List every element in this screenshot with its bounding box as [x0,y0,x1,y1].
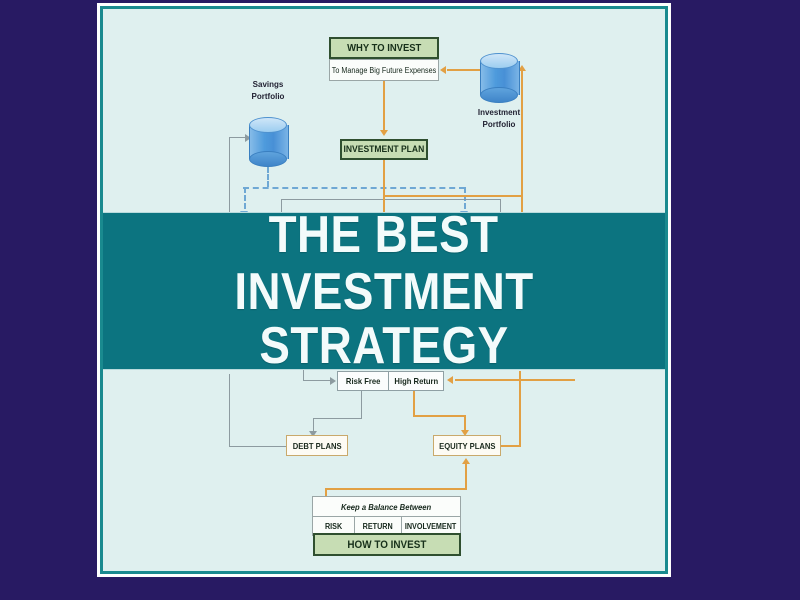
node-debt-plans[interactable]: DEBT PLANS [286,435,348,456]
node-investment-plan-label: INVESTMENT PLAN [344,144,425,155]
node-manage-expenses-label: To Manage Big Future Expenses [332,66,436,75]
connector-riskfree-across [313,418,362,419]
node-debt-plans-label: DEBT PLANS [293,441,342,451]
node-risk-free-label: Risk Free [346,376,380,386]
label-line2: Portfolio [459,119,539,131]
label-line1: Savings [228,79,308,91]
label-savings-portfolio: Savings Portfolio [228,79,308,102]
arrowhead-into-equity-bottom [462,458,470,464]
cylinder-investment-portfolio[interactable] [480,53,518,103]
connector-balance-across [325,488,467,490]
arrowhead-portfolio-to-expenses [440,66,446,74]
label-line2: Portfolio [228,91,308,103]
cylinder-savings-portfolio[interactable] [249,117,287,167]
connector-left-to-debt-plans [229,446,287,447]
banner-line-1: THE BEST [269,209,499,262]
balance-table: Keep a Balance Between RISK RETURN INVOL… [313,497,461,536]
banner-line-2: INVESTMENT STRATEGY [137,266,632,372]
connector-riskfree-down [361,391,362,418]
connector-equity-right [501,445,521,447]
arrowhead-into-high-return [447,376,453,384]
arrowhead-into-risk-free [330,377,336,385]
poster-canvas: WHY TO INVEST To Manage Big Future Expen… [0,0,800,600]
node-equity-plans-label: EQUITY PLANS [439,441,495,451]
arrowhead-expenses-to-plan [380,130,388,136]
node-why-to-invest-label: WHY TO INVEST [347,42,421,54]
connector-expenses-to-plan [383,81,385,131]
node-investment-plan[interactable]: INVESTMENT PLAN [340,139,428,160]
label-line1: Investment [459,107,539,119]
connector-portfolio-to-expenses [447,69,481,71]
title-banner: THE BEST INVESTMENT STRATEGY [103,213,665,369]
connector-savings-drop [267,167,269,187]
connector-into-risk-free [303,380,331,381]
balance-table-header-row: Keep a Balance Between [313,497,461,517]
connector-savings-bus [243,187,465,189]
connector-balance-riser [465,464,467,490]
connector-into-high-return [455,379,575,381]
node-why-to-invest[interactable]: WHY TO INVEST [329,37,439,59]
connector-grey-bus [281,199,501,200]
connector-right-riser [521,71,523,213]
node-equity-plans[interactable]: EQUITY PLANS [433,435,501,456]
connector-highreturn-across [413,415,466,417]
cylinder-top [480,53,518,69]
cylinder-bottom [480,87,518,103]
connector-plan-drop [383,160,385,213]
node-how-to-invest[interactable]: HOW TO INVEST [313,533,461,556]
node-how-to-invest-label: HOW TO INVEST [347,539,426,551]
cylinder-bottom [249,151,287,167]
connector-left-riser [229,137,230,217]
connector-plan-bus [383,195,521,197]
connector-highreturn-down [413,391,415,417]
connector-left-riser-lower [229,374,230,447]
connector-equity-right-riser [519,371,521,447]
cylinder-top [249,117,287,133]
infographic-card: WHY TO INVEST To Manage Big Future Expen… [100,6,668,574]
balance-table-header: Keep a Balance Between [312,496,461,517]
diagram-canvas: WHY TO INVEST To Manage Big Future Expen… [103,9,665,571]
node-manage-expenses[interactable]: To Manage Big Future Expenses [329,59,439,81]
label-investment-portfolio: Investment Portfolio [459,107,539,130]
node-high-return-label: High Return [394,376,438,386]
